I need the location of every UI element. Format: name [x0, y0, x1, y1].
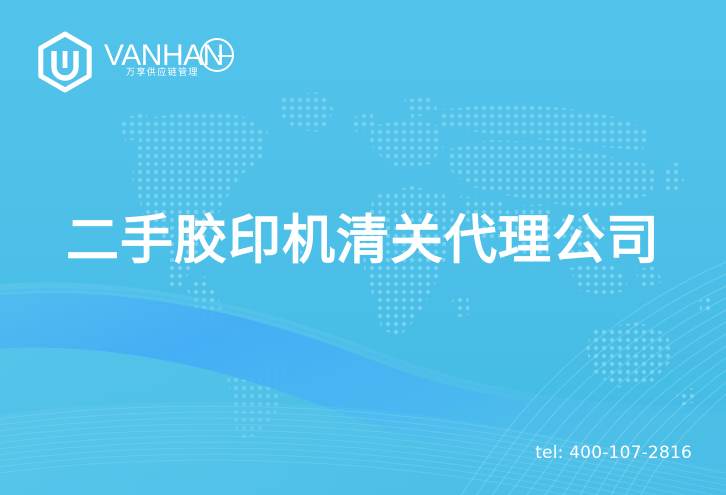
promo-banner: VANHAN 万享供应链管理 二手胶印机清关代理公司 tel: 400-107-… [0, 0, 726, 495]
brand-wordmark: VANHAN 万享供应链管理 [104, 39, 232, 85]
vanhang-hexagon-u-icon [34, 31, 96, 93]
page-title: 二手胶印机清关代理公司 [0, 210, 726, 272]
brand-g-letter-icon [200, 38, 234, 72]
brand-logo[interactable]: VANHAN 万享供应链管理 [34, 30, 232, 94]
brand-subtitle: 万享供应链管理 [126, 68, 199, 79]
contact-phone[interactable]: tel: 400-107-2816 [535, 443, 692, 463]
